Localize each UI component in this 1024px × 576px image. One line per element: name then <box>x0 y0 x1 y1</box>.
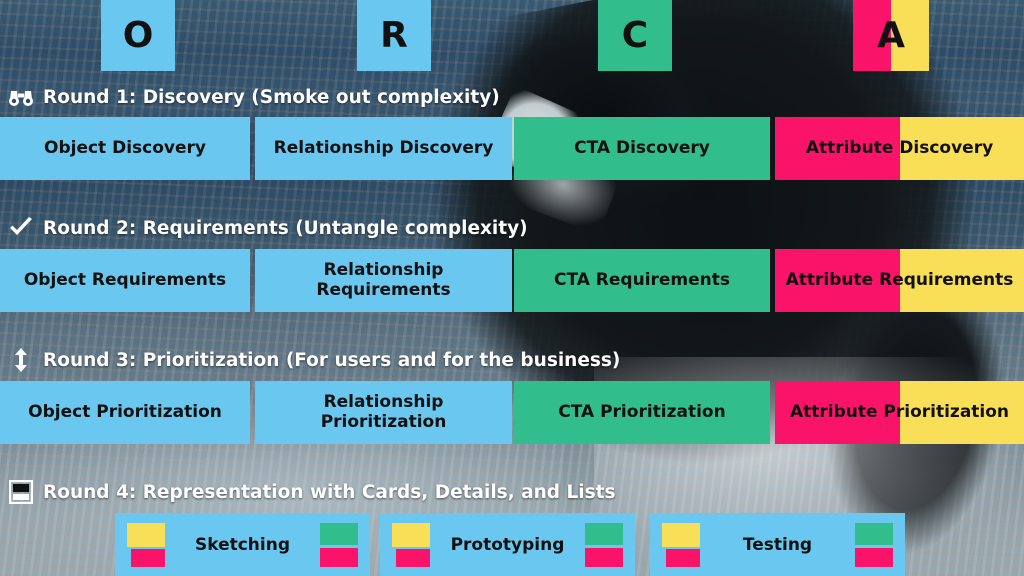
card-swatch-icon <box>662 523 700 567</box>
round-heading-label: Round 4: Representation with Cards, Deta… <box>43 482 615 503</box>
bar-label: Object Requirements <box>24 271 226 290</box>
round-3-bar[interactable]: Object Prioritization <box>0 381 250 444</box>
round-1-bar[interactable]: CTA Discovery <box>514 117 770 180</box>
bar-label: CTA Prioritization <box>558 403 725 422</box>
round-4-chip[interactable]: Sketching <box>115 513 370 576</box>
round-3-bar[interactable]: Attribute Prioritization <box>775 381 1024 444</box>
acronym-tile-o: O <box>101 0 175 71</box>
round-heading-1: Round 1: Discovery (Smoke out complexity… <box>8 82 500 112</box>
round-1-bar[interactable]: Object Discovery <box>0 117 250 180</box>
card-swatch-bottom <box>396 549 430 567</box>
bar-label: Attribute Discovery <box>806 139 993 158</box>
card-swatch-top <box>662 523 700 547</box>
round-heading-label: Round 3: Prioritization (For users and f… <box>43 350 620 371</box>
acronym-tile-a: A <box>853 0 929 71</box>
bar-label: Relationship Discovery <box>274 139 494 158</box>
up-down-arrow-icon <box>8 348 34 372</box>
card-swatch-top <box>855 523 893 545</box>
bar-label: Relationship Prioritization <box>261 393 506 431</box>
card-swatch-bottom <box>131 549 165 567</box>
card-swatch-bottom <box>855 548 893 566</box>
bar-label: Object Prioritization <box>28 403 222 422</box>
checkmark-icon <box>8 216 34 240</box>
round-4-chip[interactable]: Prototyping <box>380 513 635 576</box>
card-swatch-icon <box>585 523 623 567</box>
card-swatch-icon <box>392 523 430 567</box>
round-heading-2: Round 2: Requirements (Untangle complexi… <box>8 213 528 243</box>
round-1-bar[interactable]: Relationship Discovery <box>255 117 512 180</box>
round-heading-4: Round 4: Representation with Cards, Deta… <box>8 477 615 507</box>
acronym-letter: C <box>622 18 648 54</box>
card-swatch-top <box>392 523 430 547</box>
binoculars-icon <box>8 85 34 109</box>
acronym-letter: A <box>877 18 905 54</box>
bar-label: Object Discovery <box>44 139 206 158</box>
card-swatch-icon <box>855 523 893 567</box>
card-swatch-bottom <box>666 549 700 567</box>
card-swatch-top <box>320 523 358 545</box>
bar-label: CTA Discovery <box>574 139 710 158</box>
chip-label: Prototyping <box>430 535 585 555</box>
card-swatch-top <box>127 523 165 547</box>
bar-label: Attribute Prioritization <box>790 403 1009 422</box>
card-swatch-bottom <box>320 548 358 566</box>
round-heading-label: Round 2: Requirements (Untangle complexi… <box>43 218 528 239</box>
round-2-bar[interactable]: Object Requirements <box>0 249 250 312</box>
round-1-bar[interactable]: Attribute Discovery <box>775 117 1024 180</box>
round-3-bar[interactable]: Relationship Prioritization <box>255 381 512 444</box>
acronym-letter: O <box>123 18 154 54</box>
acronym-tile-r: R <box>357 0 431 71</box>
round-2-bar[interactable]: CTA Requirements <box>514 249 770 312</box>
card-swatch-icon <box>127 523 165 567</box>
acronym-tile-c: C <box>598 0 672 71</box>
round-heading-label: Round 1: Discovery (Smoke out complexity… <box>43 87 500 108</box>
round-3-bar[interactable]: CTA Prioritization <box>514 381 770 444</box>
round-heading-3: Round 3: Prioritization (For users and f… <box>8 345 620 375</box>
card-swatch-bottom <box>585 548 623 566</box>
chip-label: Testing <box>700 535 855 555</box>
card-swatch-icon <box>320 523 358 567</box>
bar-label: CTA Requirements <box>554 271 730 290</box>
round-4-chip[interactable]: Testing <box>650 513 905 576</box>
acronym-row: ORCA <box>0 0 1024 71</box>
card-details-icon <box>8 480 34 504</box>
round-2-bar[interactable]: Attribute Requirements <box>775 249 1024 312</box>
bar-label: Attribute Requirements <box>786 271 1014 290</box>
bar-label: Relationship Requirements <box>261 261 506 299</box>
round-2-bar[interactable]: Relationship Requirements <box>255 249 512 312</box>
card-swatch-top <box>585 523 623 545</box>
chip-label: Sketching <box>165 535 320 555</box>
acronym-letter: R <box>380 18 408 54</box>
